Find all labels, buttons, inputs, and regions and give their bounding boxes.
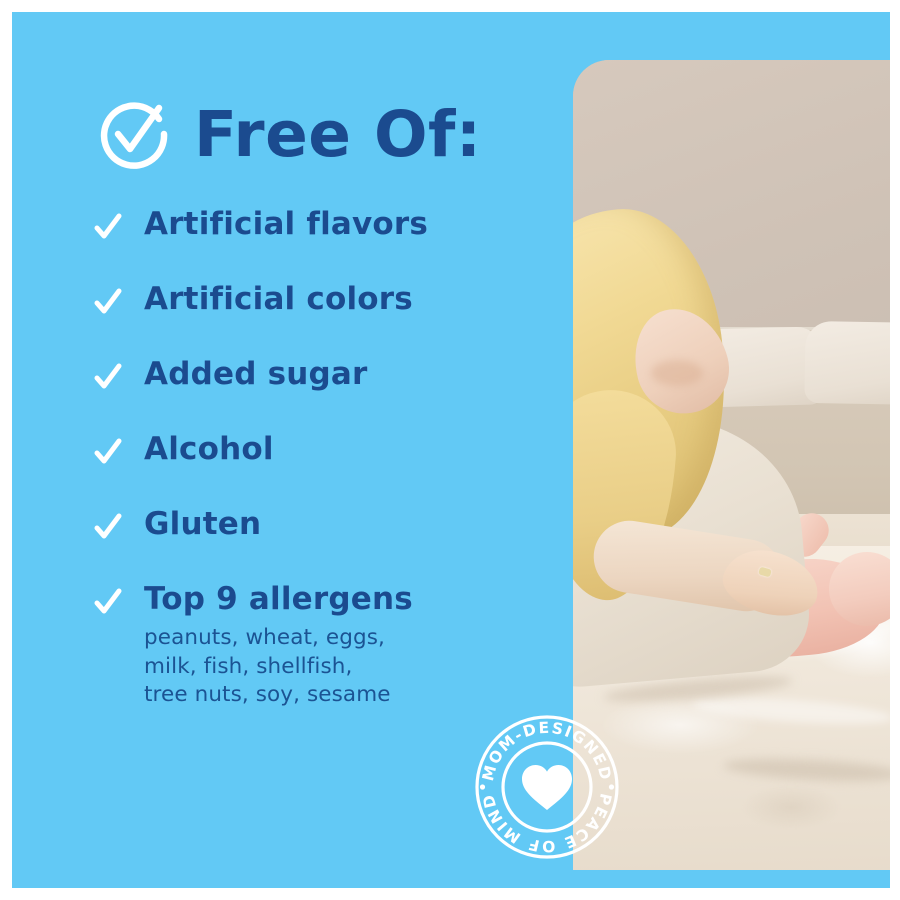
list-item: Artificial flavors (94, 208, 524, 242)
photo-pillow (804, 321, 890, 405)
allergen-line: peanuts, wheat, eggs, (144, 624, 413, 653)
check-icon (94, 587, 122, 617)
check-icon (94, 437, 122, 467)
list-item: Alcohol (94, 433, 524, 467)
free-of-list: Artificial flavors Artificial colors Add… (94, 208, 524, 710)
list-item: Added sugar (94, 358, 524, 392)
list-item-label: Added sugar (144, 358, 368, 390)
headline-row: Free Of: (96, 96, 482, 172)
badge-dot (609, 784, 614, 789)
check-icon (94, 212, 122, 242)
allergen-line: milk, fish, shellfish, (144, 653, 413, 682)
photo-mother-face-shadow (651, 360, 703, 386)
list-item: Top 9 allergens peanuts, wheat, eggs, mi… (94, 583, 524, 710)
allergen-line: tree nuts, soy, sesame (144, 681, 413, 710)
list-item-label: Alcohol (144, 433, 274, 465)
check-icon (94, 287, 122, 317)
list-item-body: Top 9 allergens peanuts, wheat, eggs, mi… (144, 583, 413, 710)
list-item-label: Top 9 allergens (144, 581, 413, 617)
blue-panel: Free Of: Artificial flavors Artificial (12, 12, 890, 888)
allergen-sublist: peanuts, wheat, eggs, milk, fish, shellf… (144, 624, 413, 710)
list-item-label: Artificial colors (144, 283, 413, 315)
list-item: Gluten (94, 508, 524, 542)
page-title: Free Of: (194, 103, 482, 166)
check-icon (94, 362, 122, 392)
circle-check-icon (96, 96, 172, 172)
mother-and-baby-photo (573, 60, 890, 870)
badge-dot (480, 784, 485, 789)
heart-icon (522, 765, 572, 810)
mom-designed-badge: MOM-DESIGNED PEACE OF MIND (474, 714, 620, 860)
poster-canvas: Free Of: Artificial flavors Artificial (0, 0, 900, 900)
list-item-label: Artificial flavors (144, 208, 428, 240)
list-item-label: Gluten (144, 508, 261, 540)
check-icon (94, 512, 122, 542)
list-item: Artificial colors (94, 283, 524, 317)
